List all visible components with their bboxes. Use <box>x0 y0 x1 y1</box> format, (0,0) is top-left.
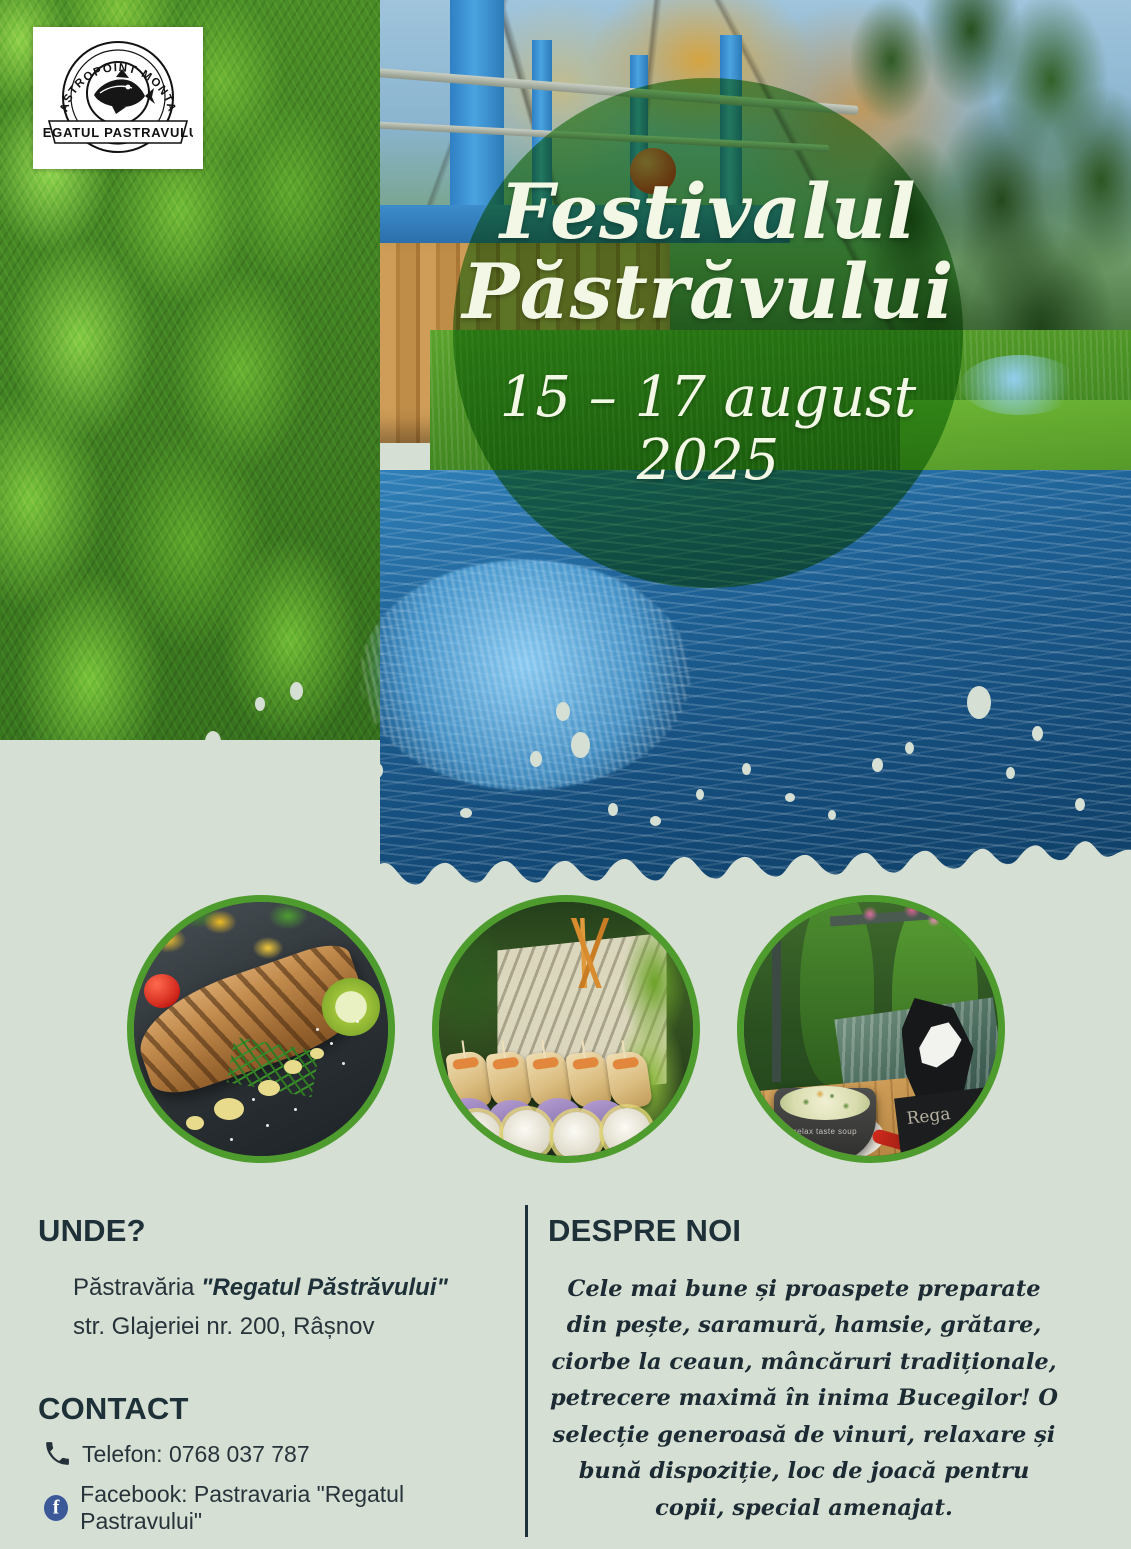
festival-dates: 15 – 17 august <box>500 367 917 430</box>
trout-emblem-icon: GASTROPOINT MONTAN REGATUL PASTRAVULUI <box>43 35 193 161</box>
photo-circles: relax taste soup Rega <box>0 895 1131 1170</box>
phone-icon <box>44 1441 70 1467</box>
about-heading: DESPRE NOI <box>548 1213 1060 1249</box>
contact-heading: CONTACT <box>38 1391 500 1427</box>
where-heading: UNDE? <box>38 1213 500 1249</box>
contact-row-facebook[interactable]: Facebook: Pastravaria "Regatul Pastravul… <box>44 1481 500 1535</box>
phone-label: Telefon: 0768 037 787 <box>82 1441 310 1468</box>
photo-circle-soup: relax taste soup Rega <box>737 895 1005 1163</box>
chalkboard-sign: Rega <box>894 1086 1005 1163</box>
photo-circle-grilled-trout <box>127 895 395 1163</box>
photo-circle-appetizers <box>432 895 700 1163</box>
facebook-label: Facebook: Pastravaria "Regatul Pastravul… <box>80 1481 500 1535</box>
venue-address: str. Glajeriei nr. 200, Râșnov <box>73 1308 500 1347</box>
poster: Festivalul Păstrăvului 15 – 17 august 20… <box>0 0 1131 1549</box>
festival-year: 2025 <box>637 430 780 493</box>
chalkboard-text: Rega <box>905 1104 951 1129</box>
water-splash <box>360 560 690 790</box>
info-section: UNDE? Păstravăria "Regatul Păstrăvului" … <box>0 1185 1131 1549</box>
bowl-label: relax taste soup <box>782 1128 870 1137</box>
far-water-splash <box>960 355 1080 415</box>
about-column: DESPRE NOI Cele mai bune și proaspete pr… <box>500 1185 1100 1549</box>
title-line-1: Festivalul <box>500 173 916 251</box>
festival-title-block: Festivalul Păstrăvului 15 – 17 august 20… <box>453 78 963 588</box>
venue-line: Păstravăria "Regatul Păstrăvului" <box>73 1269 500 1308</box>
location-contact-column: UNDE? Păstravăria "Regatul Păstrăvului" … <box>0 1185 500 1549</box>
title-line-2: Păstrăvului <box>462 251 953 333</box>
venue-name: "Regatul Păstrăvului" <box>201 1274 448 1301</box>
svg-text:REGATUL PASTRAVULUI: REGATUL PASTRAVULUI <box>43 125 193 140</box>
where-lines: Păstravăria "Regatul Păstrăvului" str. G… <box>73 1269 500 1347</box>
contact-row-phone[interactable]: Telefon: 0768 037 787 <box>44 1441 500 1468</box>
brand-logo: GASTROPOINT MONTAN REGATUL PASTRAVULUI <box>33 27 203 169</box>
about-body: Cele mai bune și proaspete preparate din… <box>548 1271 1060 1526</box>
facebook-icon <box>44 1495 68 1521</box>
contact-list: Telefon: 0768 037 787 Facebook: Pastrava… <box>44 1441 500 1535</box>
venue-prefix: Păstravăria <box>73 1274 201 1301</box>
